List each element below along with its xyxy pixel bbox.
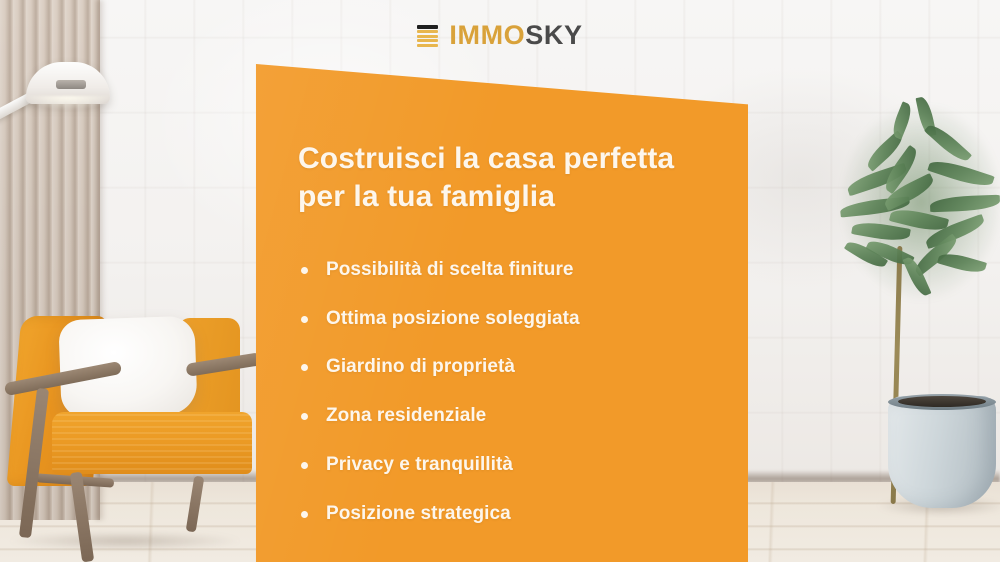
list-item: Ottima posizione soleggiata <box>298 308 722 331</box>
panel-content: Costruisci la casa perfetta per la tua f… <box>298 140 722 526</box>
brand-name-part1: IMMO <box>449 20 525 50</box>
armchair-seat-cushion <box>52 412 252 474</box>
bullet-dot-icon <box>301 316 308 323</box>
bullet-dot-icon <box>301 364 308 371</box>
potted-plant <box>836 96 1000 536</box>
list-item-label: Ottima posizione soleggiata <box>326 308 580 329</box>
brand-name-part2: SKY <box>525 20 582 50</box>
list-item-label: Giardino di proprietà <box>326 356 515 377</box>
armchair-leg-back-right <box>186 476 205 533</box>
bullet-dot-icon <box>301 413 308 420</box>
list-item: Privacy e tranquillità <box>298 454 722 477</box>
feature-list: Possibilità di scelta finiture Ottima po… <box>298 259 722 526</box>
brand-logo: IMMOSKY <box>0 22 1000 49</box>
list-item-label: Privacy e tranquillità <box>326 454 513 475</box>
list-item: Posizione strategica <box>298 503 722 526</box>
brand-name: IMMOSKY <box>449 22 582 49</box>
list-item: Giardino di proprietà <box>298 356 722 379</box>
white-cushion <box>58 316 197 419</box>
list-item-label: Zona residenziale <box>326 405 486 426</box>
bullet-dot-icon <box>301 462 308 469</box>
advertisement-banner: Costruisci la casa perfetta per la tua f… <box>0 0 1000 562</box>
list-item-label: Posizione strategica <box>326 503 511 524</box>
floor-lamp-glow <box>24 96 112 110</box>
bullet-dot-icon <box>301 267 308 274</box>
plant-pot <box>888 396 996 508</box>
headline-line-1: Costruisci la casa perfetta <box>298 142 674 175</box>
bullet-dot-icon <box>301 511 308 518</box>
stacked-bars-logo-mark-icon <box>417 25 438 47</box>
page-title: Costruisci la casa perfetta per la tua f… <box>298 140 722 217</box>
armchair-floor-shadow <box>10 532 240 550</box>
headline-line-2: per la tua famiglia <box>298 180 555 213</box>
list-item: Possibilità di scelta finiture <box>298 259 722 282</box>
orange-armchair <box>0 300 260 562</box>
floor-lamp-bulb-slot <box>56 80 86 89</box>
list-item-label: Possibilità di scelta finiture <box>326 259 574 280</box>
orange-content-panel: Costruisci la casa perfetta per la tua f… <box>254 58 748 562</box>
list-item: Zona residenziale <box>298 405 722 428</box>
plant-pot-soil <box>898 396 986 407</box>
